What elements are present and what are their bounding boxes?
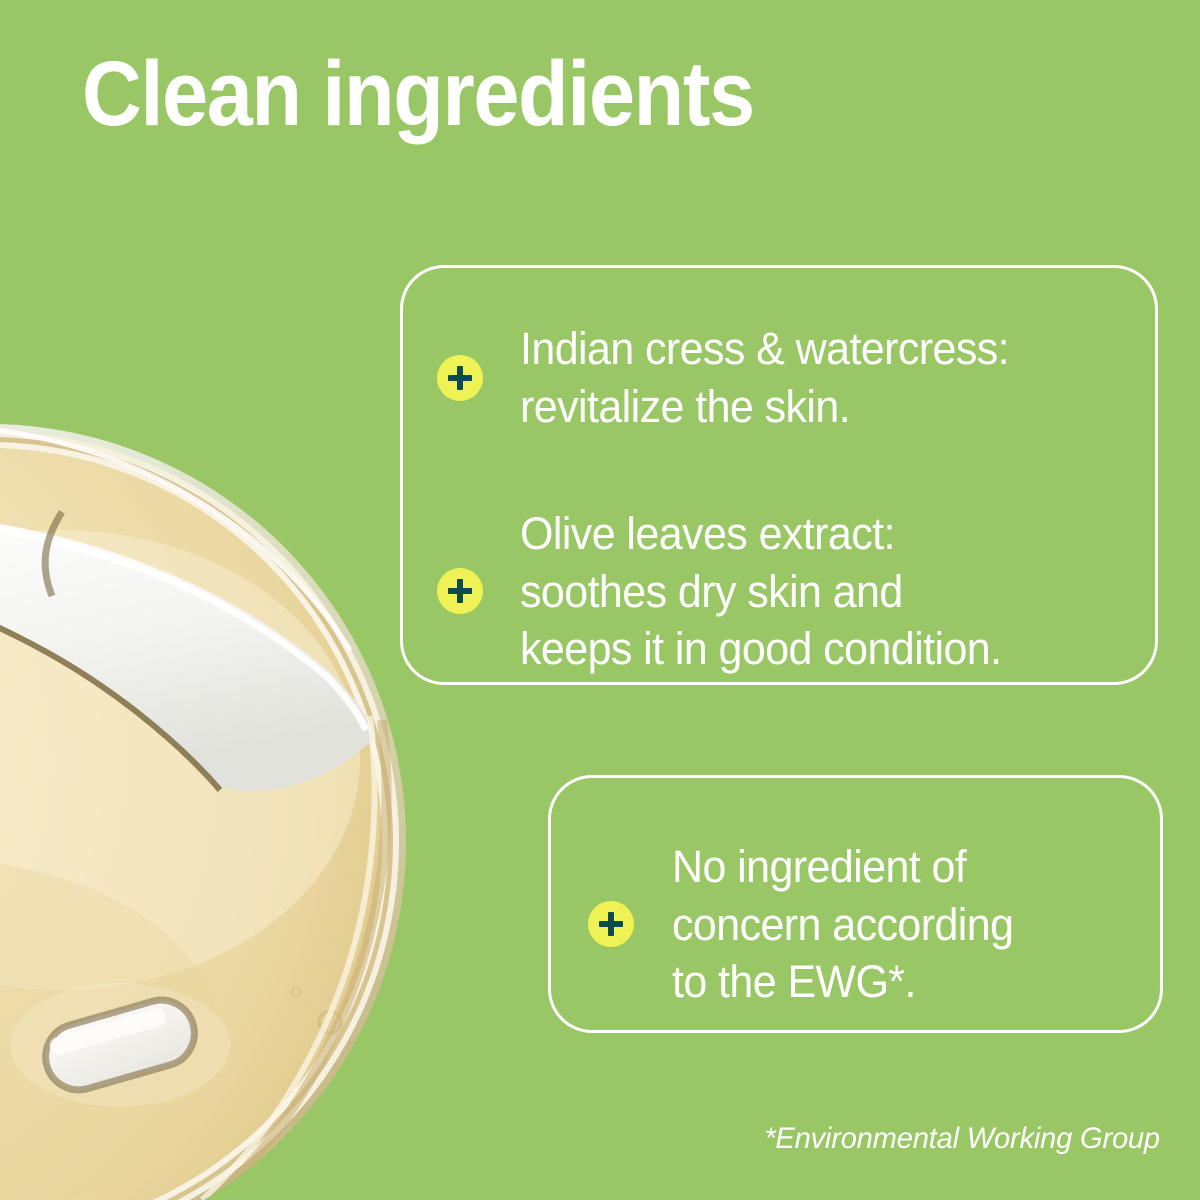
ad-creative-canvas: Clean ingredients Indian cress & watercr…: [0, 0, 1200, 1200]
list-item-line: keeps it in good condition.: [520, 620, 1001, 678]
page-title: Clean ingredients: [82, 46, 754, 144]
list-item-line: concern according: [672, 896, 1013, 954]
list-item-line: No ingredient of: [672, 838, 1013, 896]
plus-badge-icon: [437, 568, 483, 614]
footnote: *Environmental Working Group: [764, 1122, 1160, 1156]
list-item-indian-cress: Indian cress & watercress: revitalize th…: [437, 320, 1032, 435]
plus-badge-icon: [588, 901, 634, 947]
list-item-line: revitalize the skin.: [520, 378, 1009, 436]
list-item-line: Olive leaves extract:: [520, 505, 1001, 563]
list-item-line: soothes dry skin and: [520, 563, 1001, 621]
list-item-olive-leaves: Olive leaves extract: soothes dry skin a…: [437, 505, 1024, 678]
list-item-label: Olive leaves extract: soothes dry skin a…: [520, 505, 1001, 678]
list-item-line: to the EWG*.: [672, 953, 1013, 1011]
plus-badge-icon: [437, 355, 483, 401]
list-item-no-ingredient-of-concern: No ingredient of concern according to th…: [588, 838, 1030, 1011]
list-item-label: Indian cress & watercress: revitalize th…: [520, 320, 1009, 435]
list-item-label: No ingredient of concern according to th…: [672, 838, 1013, 1011]
list-item-line: Indian cress & watercress:: [520, 320, 1009, 378]
